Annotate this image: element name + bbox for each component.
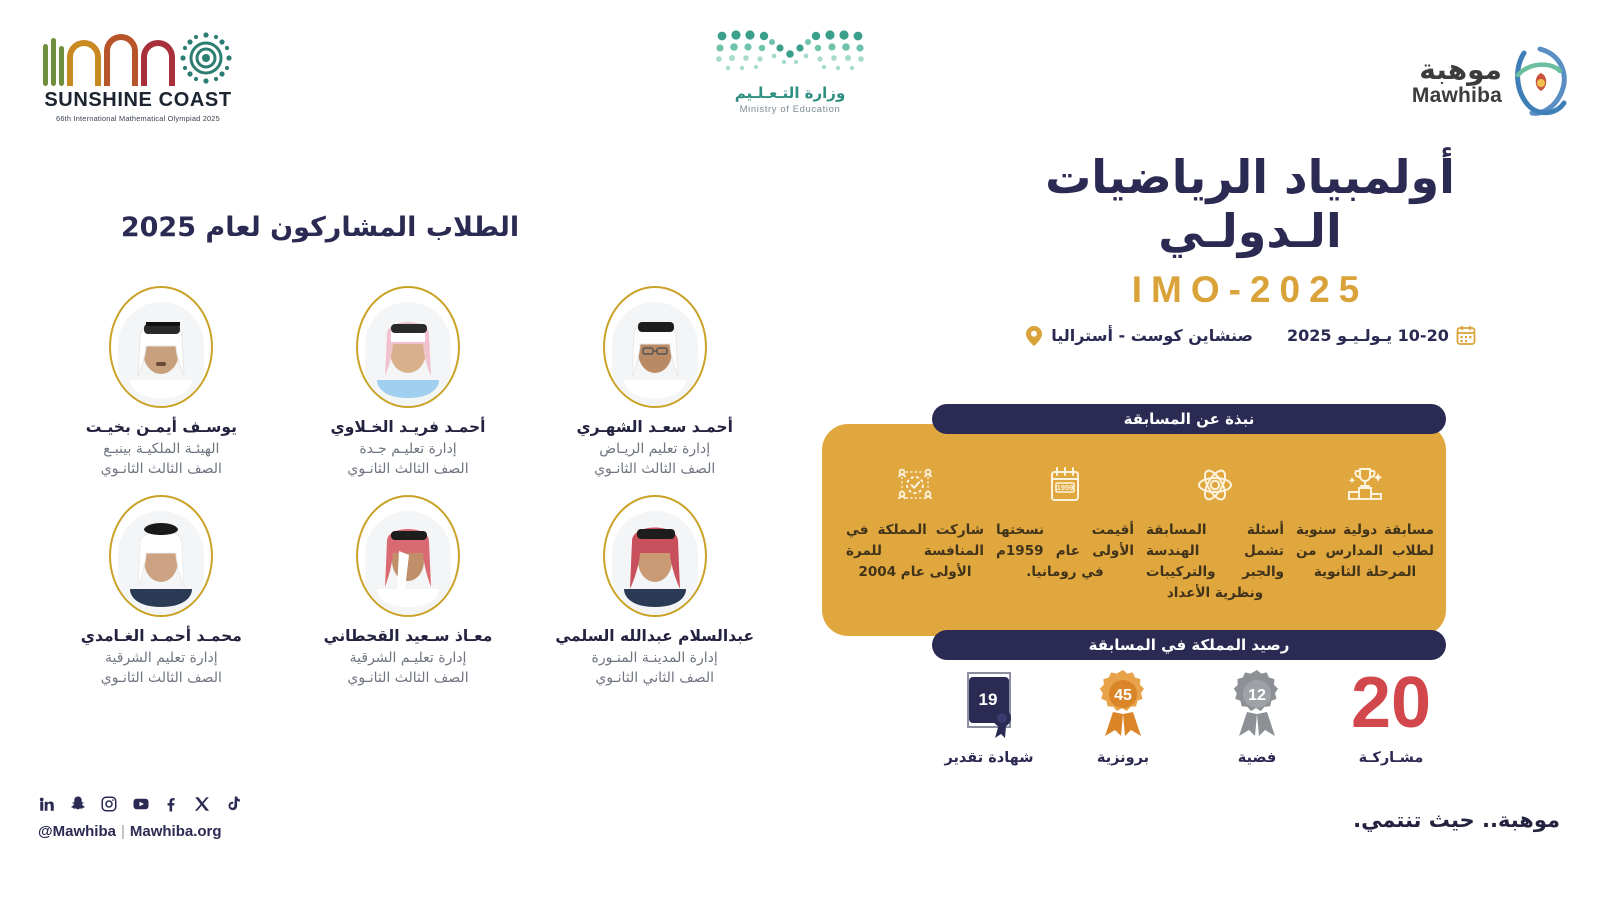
- avatar: [356, 495, 460, 617]
- linkedin-icon[interactable]: [38, 795, 56, 813]
- about-fact-text: أقيمت نسختها الأولى عام 1959م في رومانيا…: [996, 520, 1134, 583]
- social-icons: [38, 793, 242, 815]
- footer-tagline: موهبة.. حيث تنتمي.: [1353, 808, 1560, 832]
- student-org: إدارة المدينـة المنـورة: [531, 650, 778, 666]
- tiktok-icon[interactable]: [224, 795, 242, 813]
- students-section-title: الطلاب المشاركون لعام 2025: [0, 212, 640, 243]
- about-fact: 1959 أقيمت نسختها الأولى عام 1959م في رو…: [990, 462, 1140, 604]
- certificate-icon: 19: [930, 668, 1048, 740]
- record-item-silver: 12 فضية: [1198, 668, 1316, 766]
- about-fact: أسئلة المسابقة تشمل الهندسة والجبر والتر…: [1140, 462, 1290, 604]
- student-grade: الصف الثاني الثانـوي: [531, 670, 778, 686]
- hero-event-code: IMO-2025: [940, 269, 1560, 311]
- about-fact-text: مسابقة دولية سنوية لطلاب المدارس من المر…: [1296, 520, 1434, 583]
- sunshine-coast-subtitle: 66th International Mathematical Olympiad…: [28, 114, 248, 123]
- bronze-medal-icon: 45: [1064, 668, 1182, 740]
- about-ribbon: نبذة عن المسابقة: [932, 404, 1446, 434]
- hero-title-block: أولمبياد الرياضيات الـدولـي IMO-2025 10-…: [940, 150, 1560, 347]
- x-twitter-icon[interactable]: [193, 795, 211, 813]
- avatar: [603, 495, 707, 617]
- facebook-icon[interactable]: [162, 795, 180, 813]
- youtube-icon[interactable]: [131, 795, 149, 813]
- trophy-podium-icon: [1296, 462, 1434, 508]
- record-item-certificate: 19 شهادة تقدير: [930, 668, 1048, 766]
- calendar-icon: [1456, 325, 1476, 347]
- student-name: أحمـد فريـد الخـلاوي: [285, 418, 532, 436]
- student-org: إدارة تعليـم جـدة: [285, 441, 532, 457]
- bronze-medal-count: 45: [1114, 687, 1132, 704]
- record-ribbon: رصيد المملكة في المسابقة: [932, 630, 1446, 660]
- avatar: [603, 286, 707, 408]
- student-org: الهيئـة الملكيـة بينبـع: [38, 441, 285, 457]
- student-card: يوسـف أيمـن بخيـت الهيئـة الملكيـة بينبـ…: [38, 286, 285, 477]
- student-card: محمـد أحمـد الغـامدي إدارة تعليم الشرقية…: [38, 495, 285, 686]
- location-pin-icon: [1024, 325, 1044, 347]
- student-grade: الصف الثالث الثانـوي: [38, 461, 285, 477]
- record-item-participations: 20 مشـاركـة: [1332, 668, 1450, 766]
- about-fact: شاركت المملكة في المنافسة للمرة الأولى ع…: [840, 462, 990, 604]
- student-name: محمـد أحمـد الغـامدي: [38, 627, 285, 645]
- network-check-icon: [846, 462, 984, 508]
- sunshine-coast-mark: [28, 28, 248, 86]
- student-grade: الصف الثالث الثانـوي: [38, 670, 285, 686]
- avatar: [356, 286, 460, 408]
- student-grade: الصف الثالث الثانـوي: [285, 461, 532, 477]
- student-org: إدارة تعليـم الشرقية: [285, 650, 532, 666]
- record-item-label: فضية: [1198, 750, 1316, 766]
- mawhiba-website[interactable]: Mawhiba.org: [130, 823, 222, 840]
- event-location-text: صنشاين كوست - أستراليا: [1051, 326, 1253, 345]
- student-card: عبدالسلام عبدالله السلمي إدارة المدينـة …: [531, 495, 778, 686]
- about-fact-text: أسئلة المسابقة تشمل الهندسة والجبر والتر…: [1146, 520, 1284, 604]
- student-card: معـاذ سـعيد القحطاني إدارة تعليـم الشرقي…: [285, 495, 532, 686]
- certificate-count: 19: [979, 690, 998, 709]
- student-card: أحمـد سعـد الشهـري إدارة تعليم الريـاض ا…: [531, 286, 778, 477]
- record-item-label: مشـاركـة: [1332, 750, 1450, 766]
- participation-number: 20: [1351, 673, 1431, 735]
- moe-name-english: Ministry of Education: [700, 104, 880, 115]
- student-name: عبدالسلام عبدالله السلمي: [531, 627, 778, 645]
- ministry-of-education-logo: وزارة التـعـلـيم Ministry of Education: [700, 26, 880, 136]
- hero-meta: 10-20 يـولـيـو 2025 صنشاين كوست - أسترال…: [940, 325, 1560, 347]
- footer-handle-line: @Mawhiba|Mawhiba.org: [38, 823, 242, 840]
- student-org: إدارة تعليم الشرقية: [38, 650, 285, 666]
- about-fact: مسابقة دولية سنوية لطلاب المدارس من المر…: [1290, 462, 1440, 604]
- about-facts: مسابقة دولية سنوية لطلاب المدارس من المر…: [840, 462, 1440, 604]
- event-date: 10-20 يـولـيـو 2025: [1287, 325, 1476, 347]
- about-fact-text: شاركت المملكة في المنافسة للمرة الأولى ع…: [846, 520, 984, 583]
- mawhiba-name-arabic: موهبة: [1412, 55, 1502, 84]
- student-name: يوسـف أيمـن بخيـت: [38, 418, 285, 436]
- sunshine-coast-name: SUNSHINE COAST: [28, 89, 248, 112]
- silver-medal-count: 12: [1248, 687, 1266, 704]
- calendar-1959-icon: 1959: [996, 462, 1134, 508]
- record-item-label: شهادة تقدير: [930, 750, 1048, 766]
- svg-text:1959: 1959: [1057, 483, 1074, 492]
- student-name: أحمـد سعـد الشهـري: [531, 418, 778, 436]
- silver-medal-icon: 12: [1198, 668, 1316, 740]
- hero-title-line2: الـدولـي: [940, 204, 1560, 258]
- footer-social-block: @Mawhiba|Mawhiba.org: [38, 793, 242, 840]
- moe-name-arabic: وزارة التـعـلـيم: [700, 84, 880, 102]
- snapchat-icon[interactable]: [69, 795, 87, 813]
- mawhiba-name-english: Mawhiba: [1412, 85, 1502, 107]
- handle-separator: |: [121, 823, 125, 840]
- students-row-2: محمـد أحمـد الغـامدي إدارة تعليم الشرقية…: [38, 495, 778, 686]
- instagram-icon[interactable]: [100, 795, 118, 813]
- event-date-text: 10-20 يـولـيـو 2025: [1287, 326, 1449, 345]
- student-name: معـاذ سـعيد القحطاني: [285, 627, 532, 645]
- record-items: 20 مشـاركـة 12 فضية: [930, 668, 1450, 766]
- avatar: [109, 286, 213, 408]
- record-item-bronze: 45 برونزية: [1064, 668, 1182, 766]
- moe-dot-pattern-icon: [700, 26, 880, 84]
- event-location: صنشاين كوست - أستراليا: [1024, 325, 1253, 347]
- record-item-label: برونزية: [1064, 750, 1182, 766]
- mawhiba-emblem-icon: [1510, 45, 1572, 117]
- hero-title-line1: أولمبياد الرياضيات: [940, 150, 1560, 204]
- student-org: إدارة تعليم الريـاض: [531, 441, 778, 457]
- sunshine-coast-logo: SUNSHINE COAST 66th International Mathem…: [28, 28, 248, 133]
- atom-icon: [1146, 462, 1284, 508]
- student-grade: الصف الثالث الثانـوي: [285, 670, 532, 686]
- mawhiba-logo: موهبة Mawhiba: [1372, 36, 1572, 126]
- participation-count: 20: [1332, 668, 1450, 740]
- students-row-1: يوسـف أيمـن بخيـت الهيئـة الملكيـة بينبـ…: [38, 286, 778, 477]
- student-grade: الصف الثالث الثانـوي: [531, 461, 778, 477]
- students-grid: يوسـف أيمـن بخيـت الهيئـة الملكيـة بينبـ…: [38, 286, 778, 704]
- student-card: أحمـد فريـد الخـلاوي إدارة تعليـم جـدة ا…: [285, 286, 532, 477]
- avatar: [109, 495, 213, 617]
- mawhiba-handle: @Mawhiba: [38, 823, 116, 840]
- infographic-page: SUNSHINE COAST 66th International Mathem…: [0, 0, 1600, 899]
- sunshine-sun-icon: [178, 30, 234, 86]
